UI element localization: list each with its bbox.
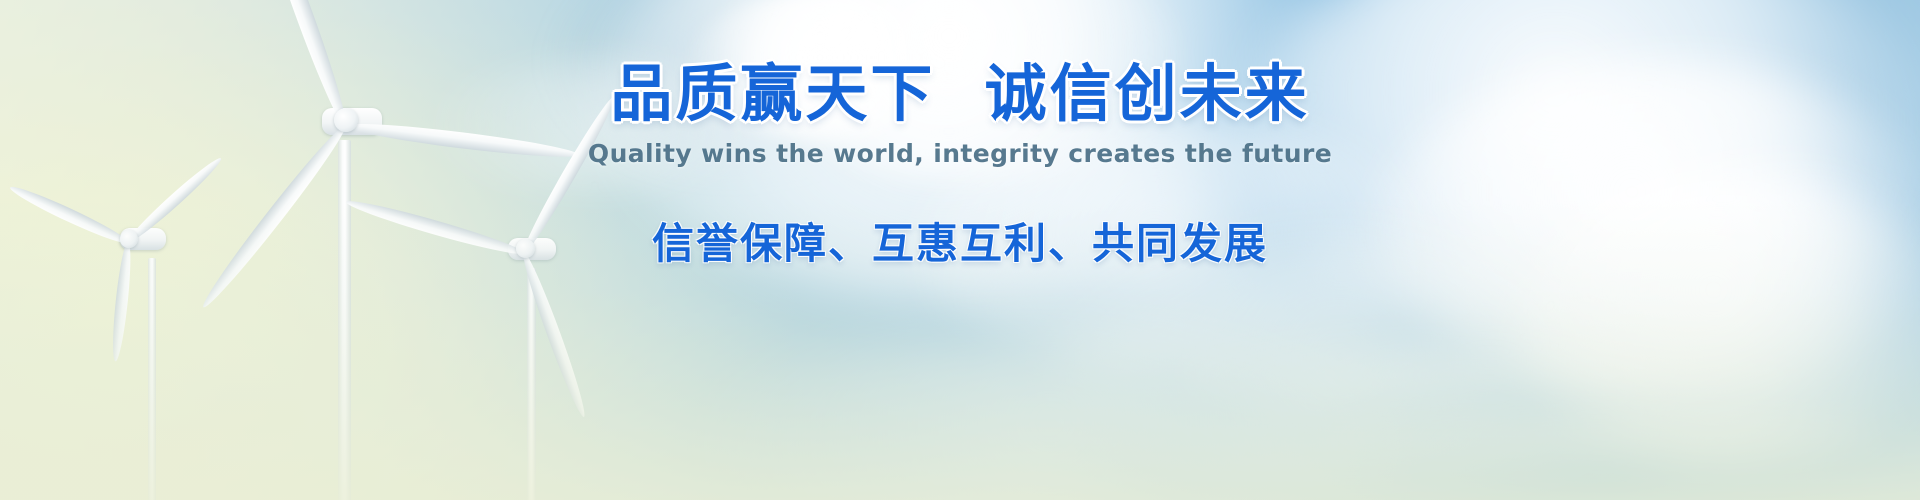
banner-subtitle: Quality wins the world, integrity create… <box>0 139 1920 168</box>
banner-headline: 品质赢天下 诚信创未来 <box>0 62 1920 125</box>
banner-tagline: 信誉保障、互惠互利、共同发展 <box>0 210 1920 271</box>
hero-banner: 品质赢天下 诚信创未来 Quality wins the world, inte… <box>0 0 1920 500</box>
banner-text-block: 品质赢天下 诚信创未来 Quality wins the world, inte… <box>0 62 1920 271</box>
